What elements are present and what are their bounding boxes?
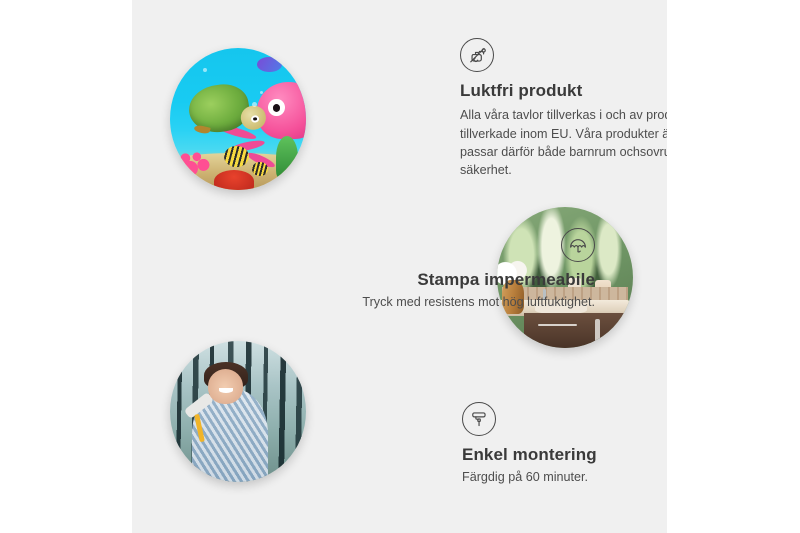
feature-easy-assembly: Enkel montering Färgdig på 60 minuter. bbox=[462, 402, 667, 487]
butterfly-fish-shape bbox=[252, 162, 268, 176]
purple-fish-shape bbox=[257, 57, 281, 73]
crab-shape bbox=[214, 170, 255, 190]
octopus-shape bbox=[257, 82, 306, 139]
promo-infographic: Luktfri produkt Alla våra tavlor tillver… bbox=[0, 0, 800, 533]
feature-odourless-product: Luktfri produkt Alla våra tavlor tillver… bbox=[460, 38, 667, 179]
photo-woman-paint-roller-forest bbox=[170, 341, 306, 482]
bubble bbox=[260, 91, 263, 94]
butterfly-fish-shape bbox=[224, 146, 248, 167]
woman-face bbox=[208, 369, 243, 404]
bubble bbox=[252, 102, 257, 107]
wooden-vanity-cabinet bbox=[524, 313, 633, 348]
feature-title: Stampa impermeabile bbox=[337, 269, 595, 290]
bubble bbox=[203, 68, 207, 72]
no-fragrance-icon bbox=[460, 38, 494, 72]
octopus-eye bbox=[268, 99, 284, 116]
turtle-eye bbox=[251, 115, 260, 123]
feature-description: Färgdig på 60 minuter. bbox=[462, 468, 667, 486]
photo-underwater-cartoon-mural bbox=[170, 48, 306, 190]
paint-roller-icon bbox=[462, 402, 496, 436]
content-panel: Luktfri produkt Alla våra tavlor tillver… bbox=[132, 0, 667, 533]
seaweed-shape bbox=[276, 136, 298, 179]
feature-title: Enkel montering bbox=[462, 444, 667, 465]
feature-title: Luktfri produkt bbox=[460, 80, 667, 101]
woman-smile bbox=[219, 388, 233, 394]
umbrella-icon bbox=[561, 228, 595, 262]
feature-waterproof-print: Stampa impermeabile Tryck med resistens … bbox=[337, 228, 595, 312]
feature-description: Alla våra tavlor tillverkas i och av pro… bbox=[460, 106, 667, 179]
feature-description: Tryck med resistens mot hög luftfuktighe… bbox=[337, 293, 595, 311]
pink-coral-shape bbox=[178, 139, 219, 176]
